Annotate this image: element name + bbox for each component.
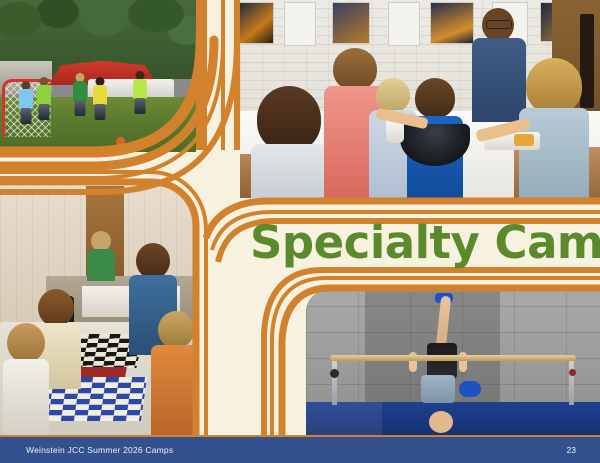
glasses-icon	[486, 20, 512, 29]
footer-page-number: 23	[567, 445, 576, 455]
top-vertical-stripes	[196, 0, 240, 150]
photo-science-content	[240, 0, 600, 198]
photo-chess-content	[0, 186, 196, 437]
photo-soccer-camp	[0, 0, 196, 152]
gymnast-knee	[459, 381, 481, 397]
background-child	[86, 231, 116, 279]
wall-poster	[332, 2, 370, 44]
page-title: Specialty Camps	[250, 220, 600, 265]
chess-player	[150, 311, 196, 431]
gymnastics-bar	[330, 355, 577, 361]
soccer-ball	[116, 137, 125, 146]
photo-chess-camp	[0, 186, 196, 437]
bar-adjuster-left	[330, 369, 339, 378]
wall-poster	[388, 2, 420, 46]
wall-poster	[430, 2, 474, 44]
photo-gymnastics-content	[306, 290, 600, 437]
photo-gymnastics-camp	[306, 290, 600, 437]
bar-upright-left	[332, 358, 337, 405]
gymnast-shorts	[421, 375, 455, 403]
gymnast-head	[429, 411, 453, 433]
wall-poster	[284, 2, 316, 46]
photo-soccer-content	[0, 0, 196, 152]
wall-poster	[240, 2, 274, 44]
photo-science-camp	[240, 0, 600, 198]
chess-player	[2, 323, 50, 433]
red-folder	[75, 367, 127, 377]
bar-upright-right	[569, 358, 574, 405]
child-participant	[250, 86, 328, 198]
page-title-block: Specialty Camps	[250, 206, 600, 278]
gymnast-torso	[427, 343, 457, 379]
brochure-page: Specialty Camps Weinstein JCC Summer 202…	[0, 0, 600, 463]
blue-gym-mat	[306, 402, 600, 437]
footer-publication-text: Weinstein JCC Summer 2026 Camps	[26, 445, 173, 455]
page-footer: Weinstein JCC Summer 2026 Camps 23	[0, 435, 600, 463]
